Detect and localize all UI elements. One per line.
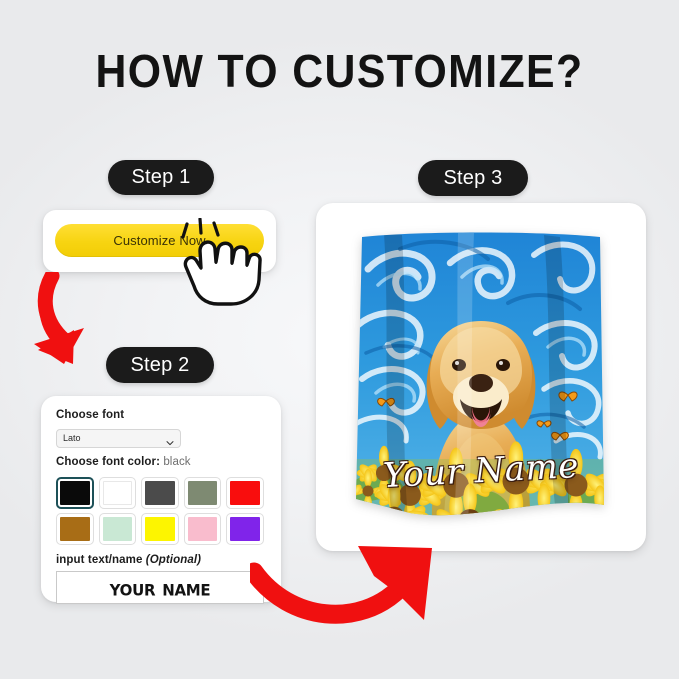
personalized-blanket-image (348, 229, 614, 525)
step-3-card: Your Name (316, 203, 646, 551)
name-input-field[interactable]: YOUR NAME (56, 571, 264, 604)
color-swatch-fill (103, 517, 133, 541)
poster-stage: HOW TO CUSTOMIZE? Step 1 Customize Now (0, 0, 679, 679)
step-2-card: Choose font Lato Choose font color: blac… (41, 396, 281, 602)
color-swatch-brown[interactable] (56, 513, 94, 545)
step-1-card: Customize Now (43, 210, 276, 272)
color-swatch-white[interactable] (99, 477, 137, 509)
font-select[interactable]: Lato (56, 429, 181, 448)
color-swatch-yellow[interactable] (141, 513, 179, 545)
input-text-name-optional: (Optional) (146, 554, 201, 566)
color-swatch-grid (56, 477, 264, 545)
color-swatch-red[interactable] (226, 477, 264, 509)
color-swatch-fill (60, 517, 90, 541)
chevron-down-icon (166, 434, 174, 442)
choose-font-color-label: Choose font color: black (56, 456, 267, 470)
color-swatch-fill (230, 481, 260, 505)
customizer-panel: Choose font Lato Choose font color: blac… (56, 409, 267, 604)
step-3-badge: Step 3 (418, 160, 528, 196)
font-select-value: Lato (63, 433, 81, 443)
input-text-name-label: input text/name (Optional) (56, 554, 267, 568)
color-swatch-black[interactable] (56, 477, 94, 509)
color-swatch-pink[interactable] (184, 513, 222, 545)
color-swatch-fill (188, 481, 218, 505)
color-swatch-fill (145, 517, 175, 541)
color-swatch-fill (103, 481, 133, 505)
choose-font-color-value: black (163, 456, 190, 468)
color-swatch-fill (60, 481, 90, 505)
step-2-badge: Step 2 (106, 347, 214, 383)
step-1-badge: Step 1 (108, 160, 214, 195)
color-swatch-mint[interactable] (99, 513, 137, 545)
name-input-value: YOUR NAME (110, 575, 211, 600)
customize-now-button[interactable]: Customize Now (55, 224, 264, 257)
arrow-step2-to-step3-icon (250, 536, 440, 631)
product-preview: Your Name (338, 223, 624, 531)
color-swatch-dark-gray[interactable] (141, 477, 179, 509)
choose-font-color-text: Choose font color: (56, 456, 160, 468)
page-title: HOW TO CUSTOMIZE? (24, 44, 655, 98)
choose-font-label: Choose font (56, 409, 267, 423)
color-swatch-sage-green[interactable] (184, 477, 222, 509)
input-text-name-text: input text/name (56, 554, 142, 566)
color-swatch-fill (145, 481, 175, 505)
color-swatch-fill (188, 517, 218, 541)
